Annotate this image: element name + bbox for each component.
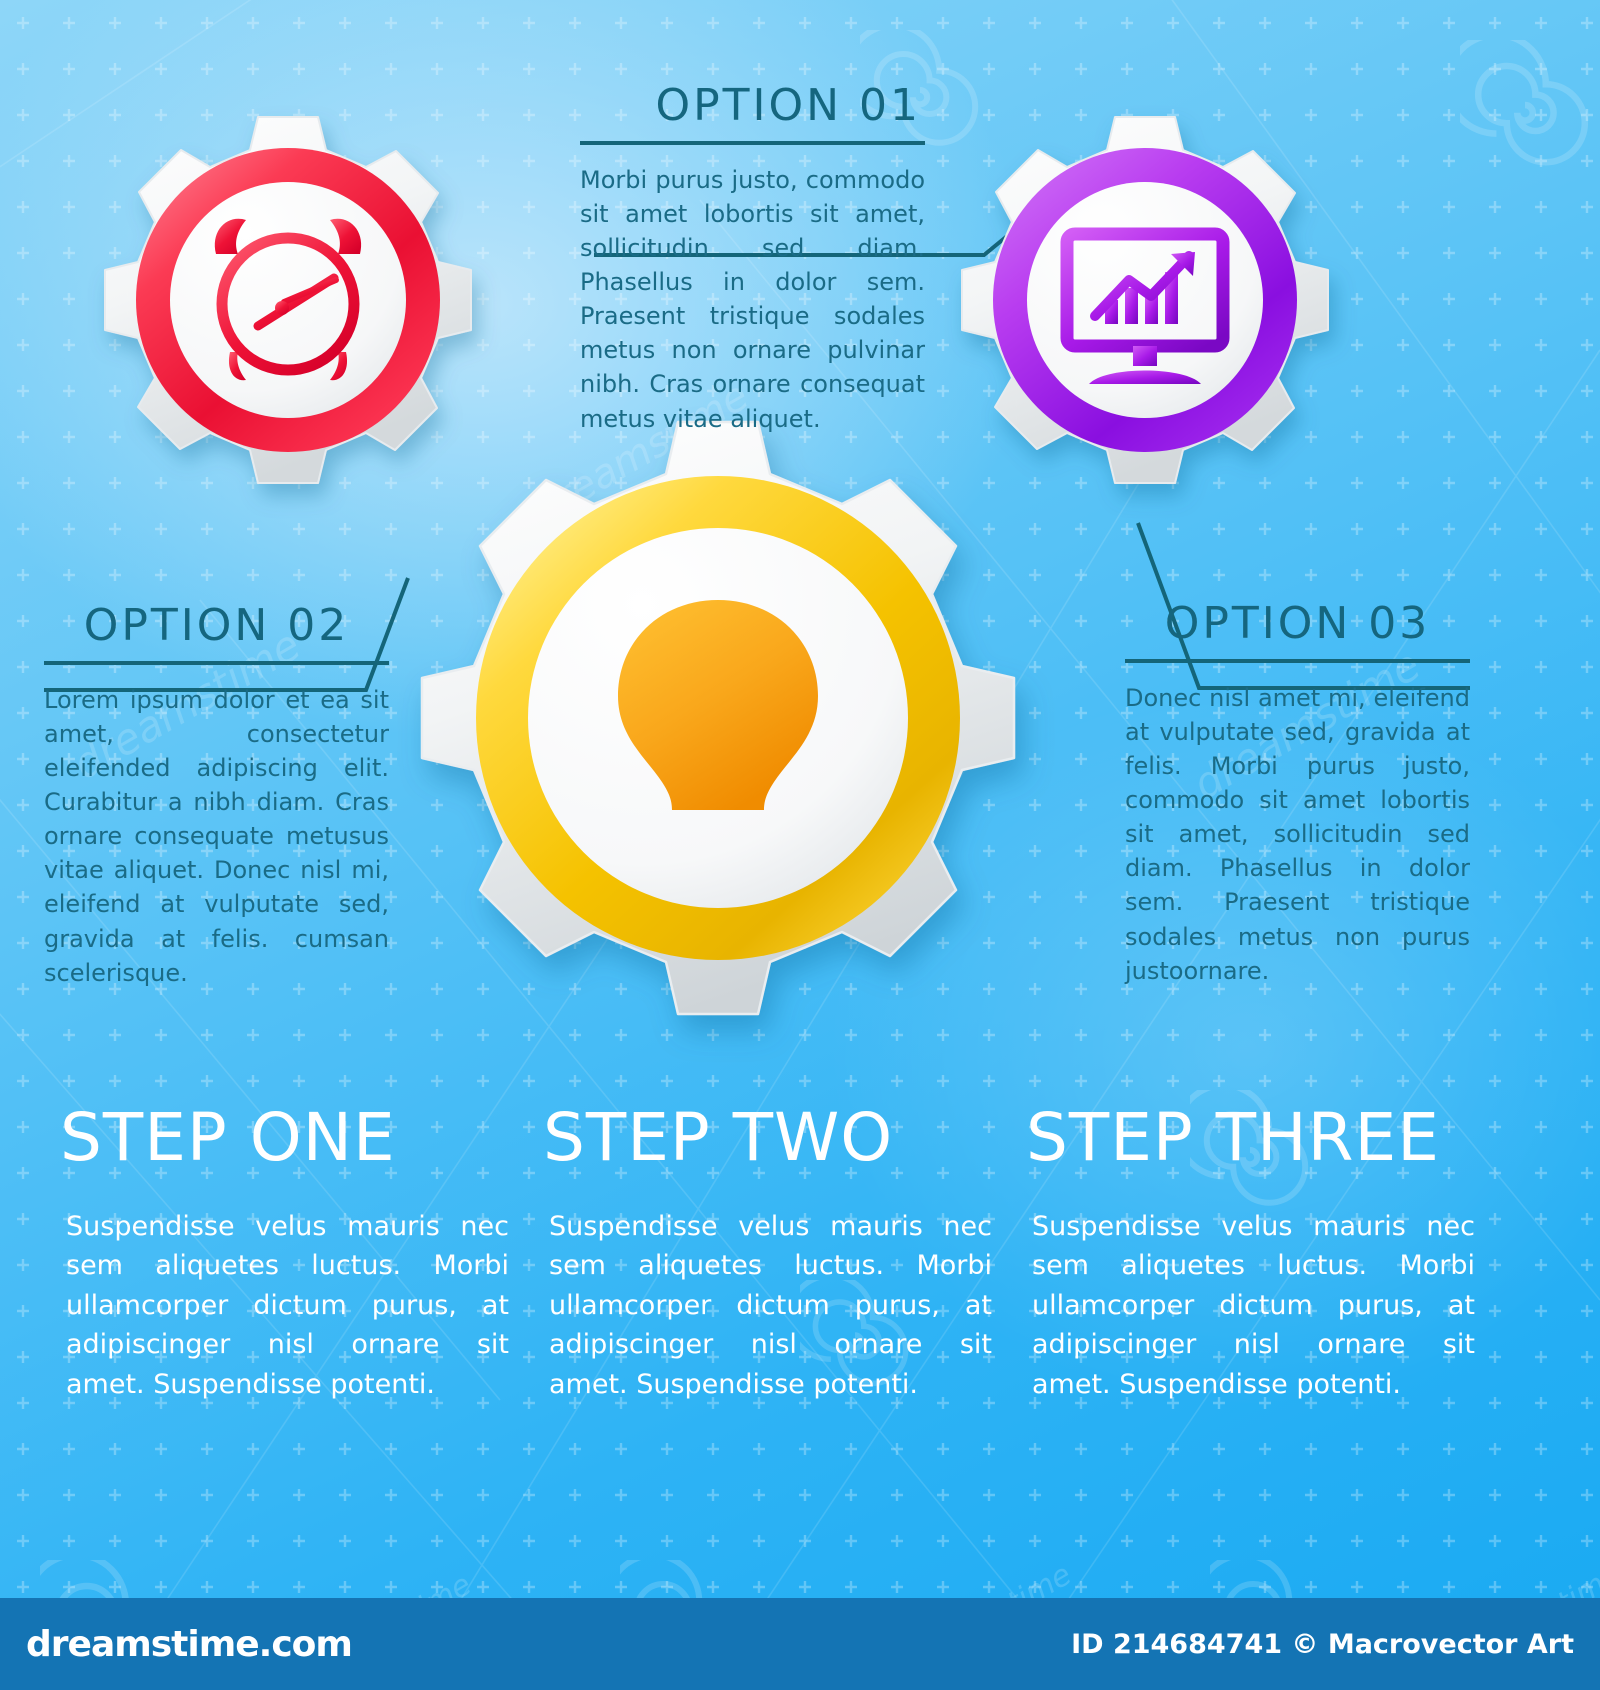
dreamstime-logo-text: dreamstime.com [26,1624,352,1665]
infographic-canvas: dreamstime dreamstime dreamstime dreamst… [0,0,1600,1690]
dreamstime-logo[interactable]: dreamstime.com [26,1624,352,1665]
step-three[interactable]: STEP THREE Suspendisse velus mauris nec … [1026,1105,1481,1404]
step-two-body: Suspendisse velus mauris nec sem aliquet… [543,1207,998,1404]
step-two[interactable]: STEP TWO Suspendisse velus mauris nec se… [543,1105,998,1404]
option-01-rule [580,141,925,145]
image-credit: ID 214684741 © Macrovector Art [1071,1629,1574,1660]
option-03-block[interactable]: OPTION 03 Donec nisl amet mi, eleifend a… [1125,598,1470,988]
option-01-title: OPTION 01 [580,80,925,131]
steps-row: STEP ONE Suspendisse velus mauris nec se… [0,1105,1600,1404]
option-01-block[interactable]: OPTION 01 Morbi purus justo, commodo sit… [580,80,925,436]
stock-footer-bar: dreamstime.com ID 214684741 © Macrovecto… [0,1598,1600,1690]
option-03-body: Donec nisl amet mi, eleifend at vulputat… [1125,681,1470,988]
option-02-block[interactable]: OPTION 02 Lorem ipsum dolor et ea sit am… [44,600,389,990]
step-one-title: STEP ONE [60,1105,515,1171]
step-three-title: STEP THREE [1026,1105,1481,1171]
gear-bulb[interactable] [400,400,1060,1080]
step-two-title: STEP TWO [543,1105,998,1171]
step-three-body: Suspendisse velus mauris nec sem aliquet… [1026,1207,1481,1404]
option-01-body: Morbi purus justo, commodo sit amet lobo… [580,163,925,436]
option-02-body: Lorem ipsum dolor et ea sit amet, consec… [44,683,389,990]
option-03-title: OPTION 03 [1125,598,1470,649]
step-one-body: Suspendisse velus mauris nec sem aliquet… [60,1207,515,1404]
option-02-rule [44,661,389,665]
step-one[interactable]: STEP ONE Suspendisse velus mauris nec se… [60,1105,515,1404]
option-02-title: OPTION 02 [44,600,389,651]
option-03-rule [1125,659,1470,663]
